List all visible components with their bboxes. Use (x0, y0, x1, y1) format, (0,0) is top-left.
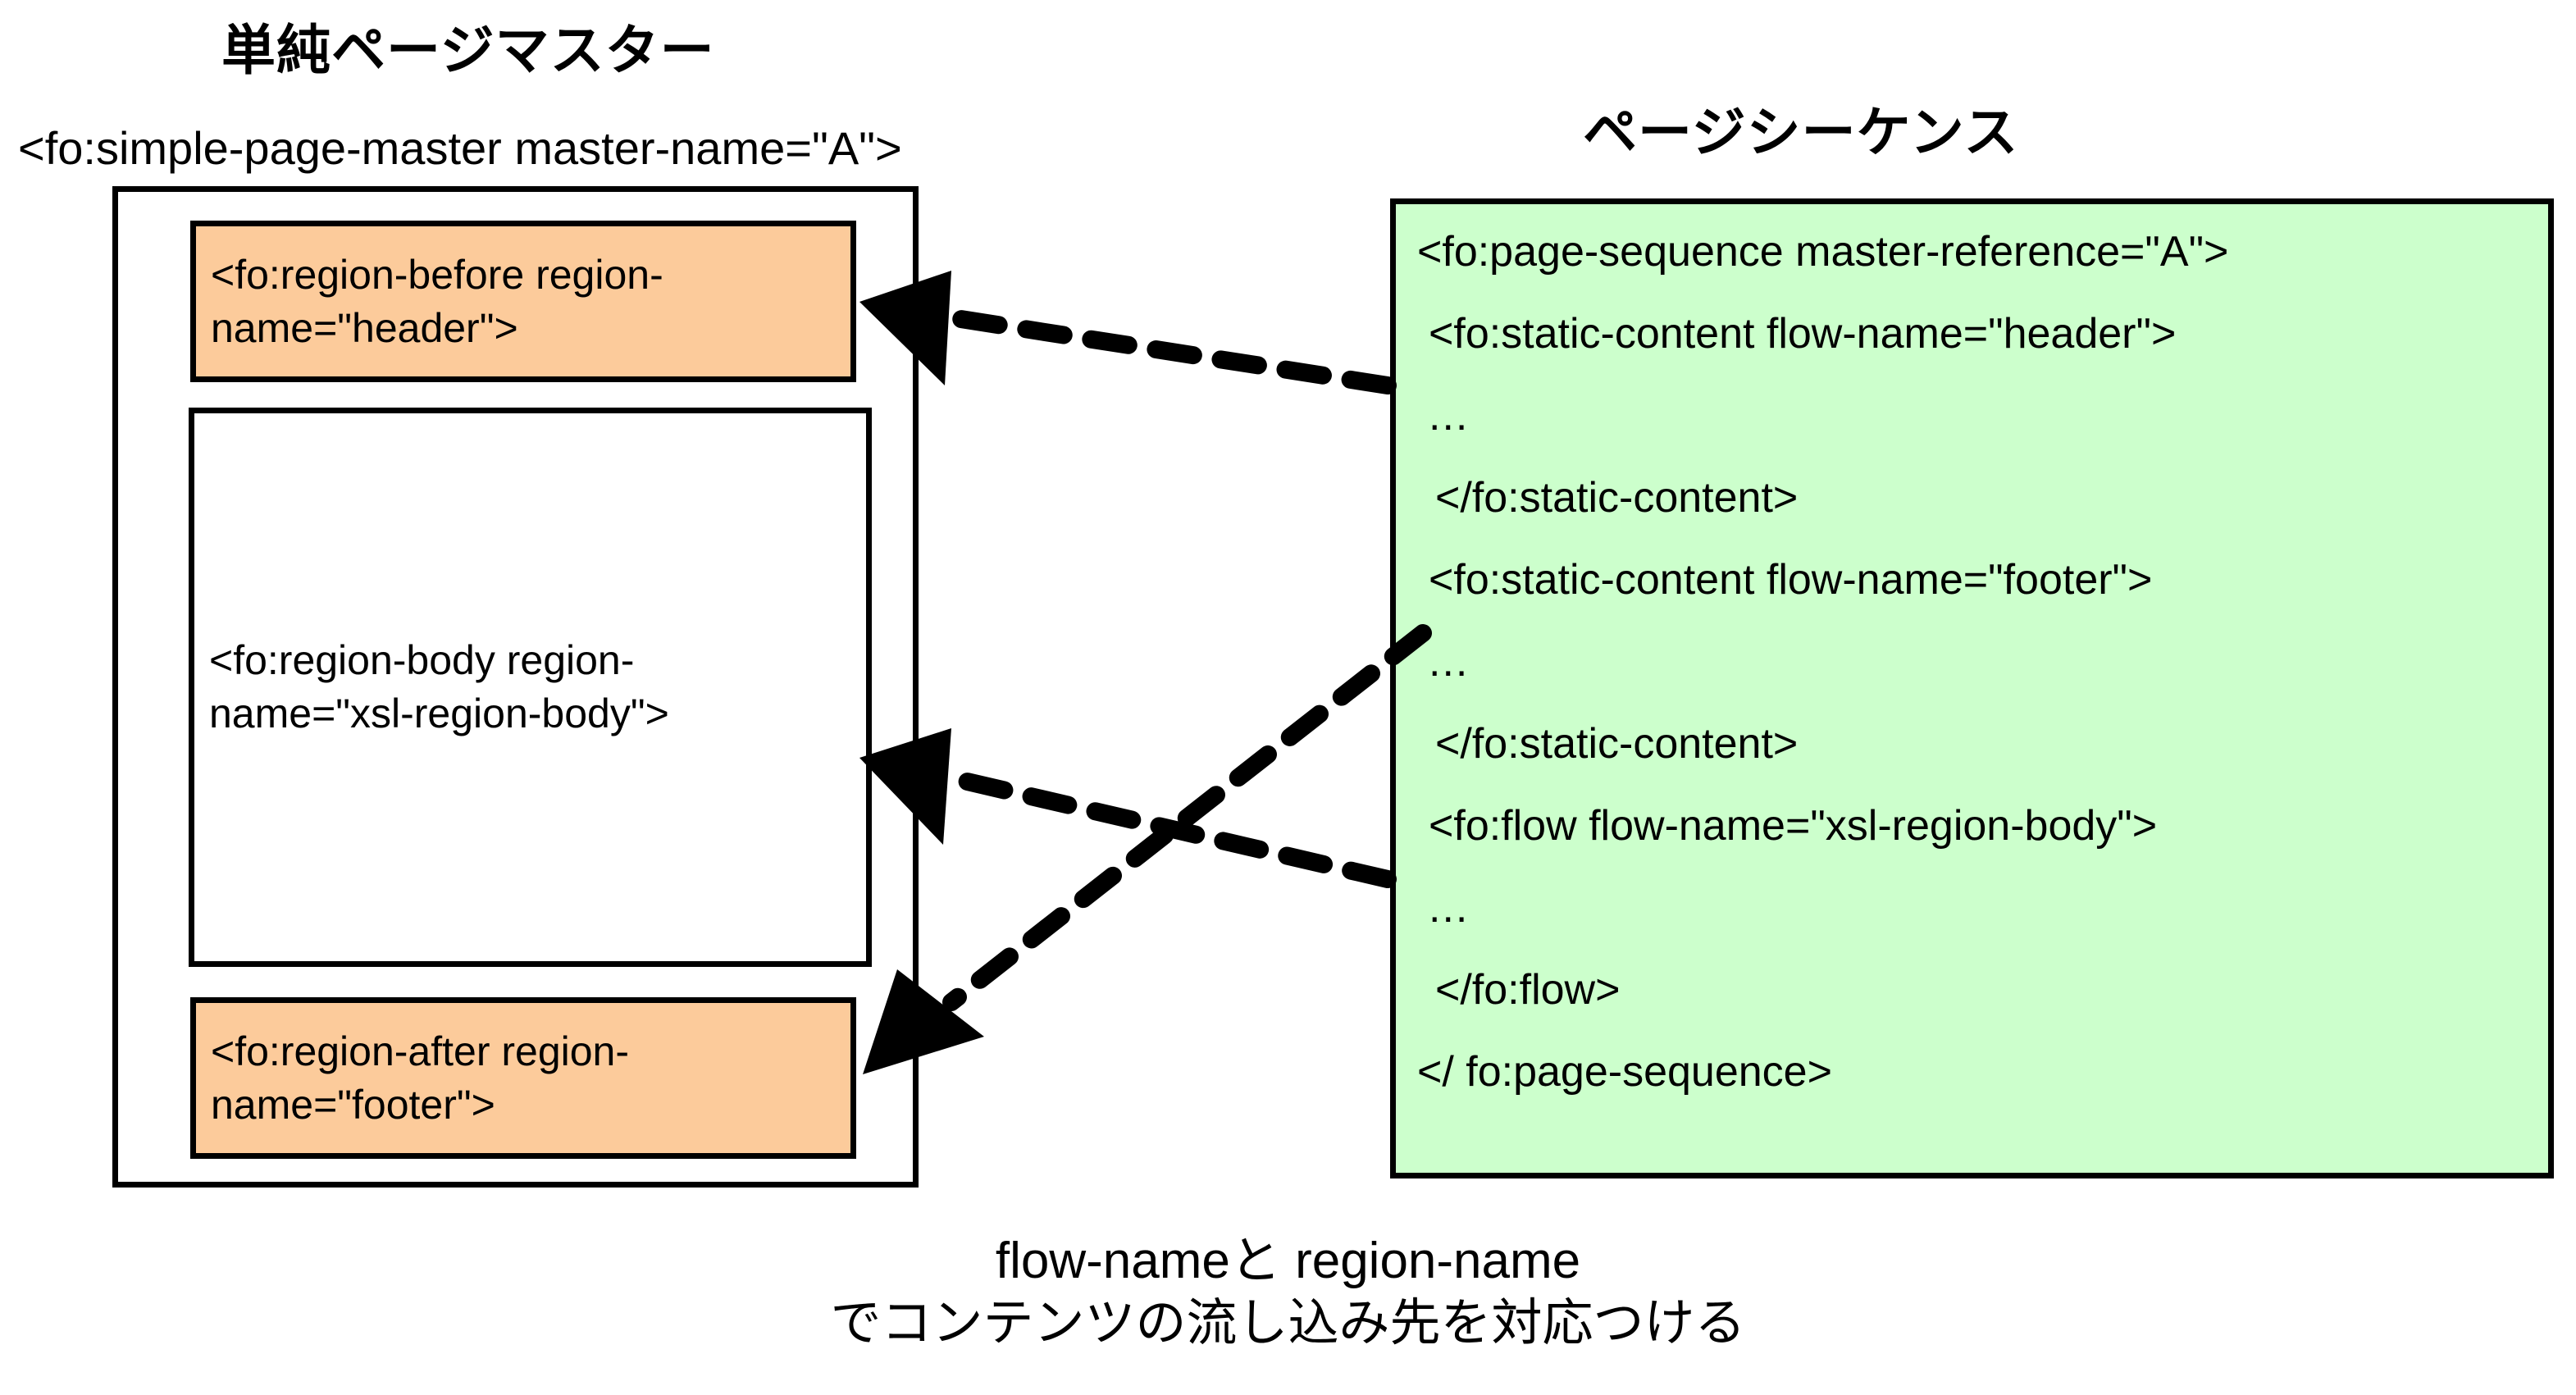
diagram-caption: flow-nameと region-name でコンテンツの流し込み先を対応つけ… (0, 1230, 2576, 1354)
sequence-line-flow-open: <fo:flow flow-name="xsl-region-body"> (1417, 805, 2527, 855)
sequence-line-dots-3: ... (1417, 887, 2527, 937)
region-body-line2: name="xsl-region-body"> (209, 687, 669, 741)
page-title-page-sequence: ページシーケンス (1583, 89, 2018, 167)
sequence-line-static-content-footer: <fo:static-content flow-name="footer"> (1417, 558, 2527, 609)
sequence-line-static-content-close-2: </fo:static-content> (1417, 723, 2527, 773)
sequence-line-dots-2: ... (1417, 641, 2527, 691)
region-before-box: <fo:region-before region- name="header"> (190, 221, 856, 382)
region-after-line2: name="footer"> (211, 1078, 629, 1132)
region-before-line1: <fo:region-before region- (211, 248, 663, 302)
region-body-box: <fo:region-body region- name="xsl-region… (189, 408, 872, 967)
diagram-canvas: 単純ページマスター <fo:simple-page-master master-… (0, 0, 2576, 1395)
region-after-box: <fo:region-after region- name="footer"> (190, 997, 856, 1159)
region-after-line1: <fo:region-after region- (211, 1025, 629, 1078)
sequence-line-page-sequence-open: <fo:page-sequence master-reference="A"> (1417, 230, 2527, 281)
page-title-simple-page-master: 単純ページマスター (221, 7, 715, 85)
caption-line-1: flow-nameと region-name (0, 1230, 2576, 1292)
sequence-line-static-content-header: <fo:static-content flow-name="header"> (1417, 312, 2527, 363)
region-body-line1: <fo:region-body region- (209, 634, 669, 687)
simple-page-master-declaration: <fo:simple-page-master master-name="A"> (18, 121, 902, 175)
sequence-line-page-sequence-close: </ fo:page-sequence> (1417, 1051, 2527, 1101)
caption-line-2: でコンテンツの流し込み先を対応つける (0, 1292, 2576, 1355)
body-mapping-arrow (859, 728, 1388, 879)
sequence-line-flow-close: </fo:flow> (1417, 969, 2527, 1019)
region-before-line2: name="header"> (211, 302, 663, 355)
page-sequence-box: <fo:page-sequence master-reference="A"> … (1390, 198, 2554, 1178)
header-mapping-arrow (859, 271, 1388, 385)
sequence-line-static-content-close-1: </fo:static-content> (1417, 476, 2527, 527)
footer-mapping-arrow (863, 633, 1423, 1074)
sequence-line-dots-1: ... (1417, 394, 2527, 445)
